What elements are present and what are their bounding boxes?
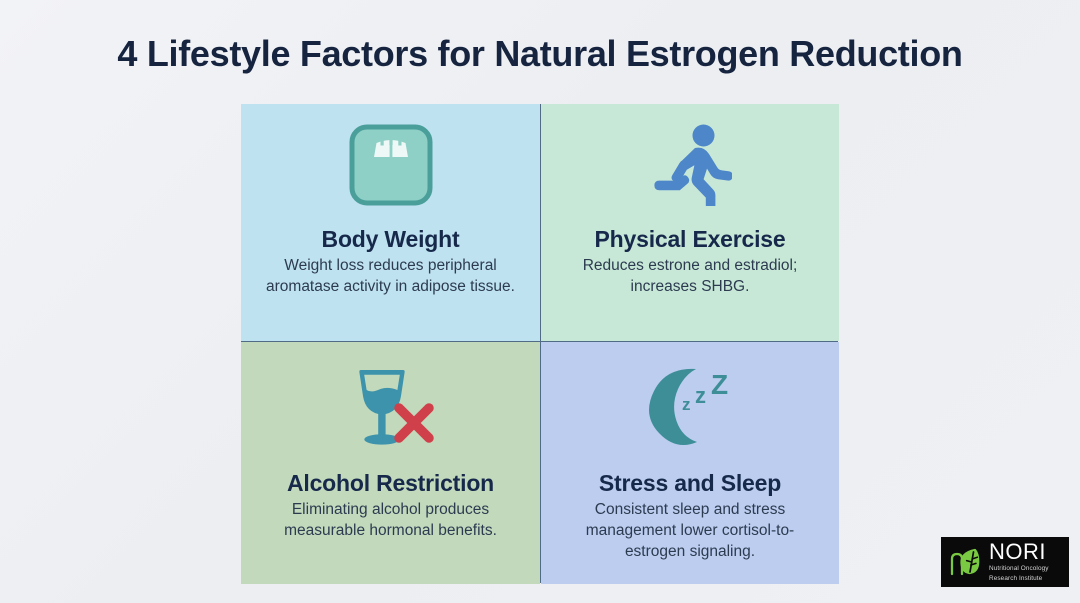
quadrant-description: Consistent sleep and stress management l…: [559, 500, 821, 563]
svg-text:z: z: [682, 395, 691, 414]
bathroom-scale-icon: [255, 104, 526, 226]
crescent-moon-zzz-icon: z z Z: [555, 342, 825, 470]
nori-logo: NORI Nutritional Oncology Research Insti…: [941, 537, 1069, 587]
nori-leaf-icon: [946, 543, 984, 581]
quadrant-description: Weight loss reduces peripheral aromatase…: [260, 256, 522, 298]
wine-glass-crossed-out-icon: [255, 342, 526, 470]
svg-text:Z: Z: [711, 369, 728, 400]
quadrant-stress-and-sleep[interactable]: z z Z Stress and Sleep Consistent sleep …: [541, 342, 839, 584]
quadrant-body-weight[interactable]: Body Weight Weight loss reduces peripher…: [241, 104, 540, 341]
nori-wordmark: NORI: [989, 541, 1049, 563]
svg-text:z: z: [695, 383, 706, 408]
quadrant-description: Reduces estrone and estradiol; increases…: [559, 256, 821, 298]
quadrant-description: Eliminating alcohol produces measurable …: [260, 500, 522, 542]
red-x-mark: [399, 408, 429, 438]
quadrant-heading: Stress and Sleep: [599, 470, 781, 496]
page-title: 4 Lifestyle Factors for Natural Estrogen…: [0, 33, 1080, 75]
nori-tagline-line2: Research Institute: [989, 575, 1049, 583]
nori-tagline-line1: Nutritional Oncology: [989, 565, 1049, 573]
quadrant-heading: Physical Exercise: [595, 226, 786, 252]
quadrant-alcohol-restriction[interactable]: Alcohol Restriction Eliminating alcohol …: [241, 342, 540, 584]
quadrant-heading: Alcohol Restriction: [287, 470, 494, 496]
quadrant-physical-exercise[interactable]: Physical Exercise Reduces estrone and es…: [541, 104, 839, 341]
quadrant-heading: Body Weight: [322, 226, 460, 252]
running-person-icon: [555, 104, 825, 226]
lifestyle-factors-grid: Body Weight Weight loss reduces peripher…: [241, 104, 838, 583]
